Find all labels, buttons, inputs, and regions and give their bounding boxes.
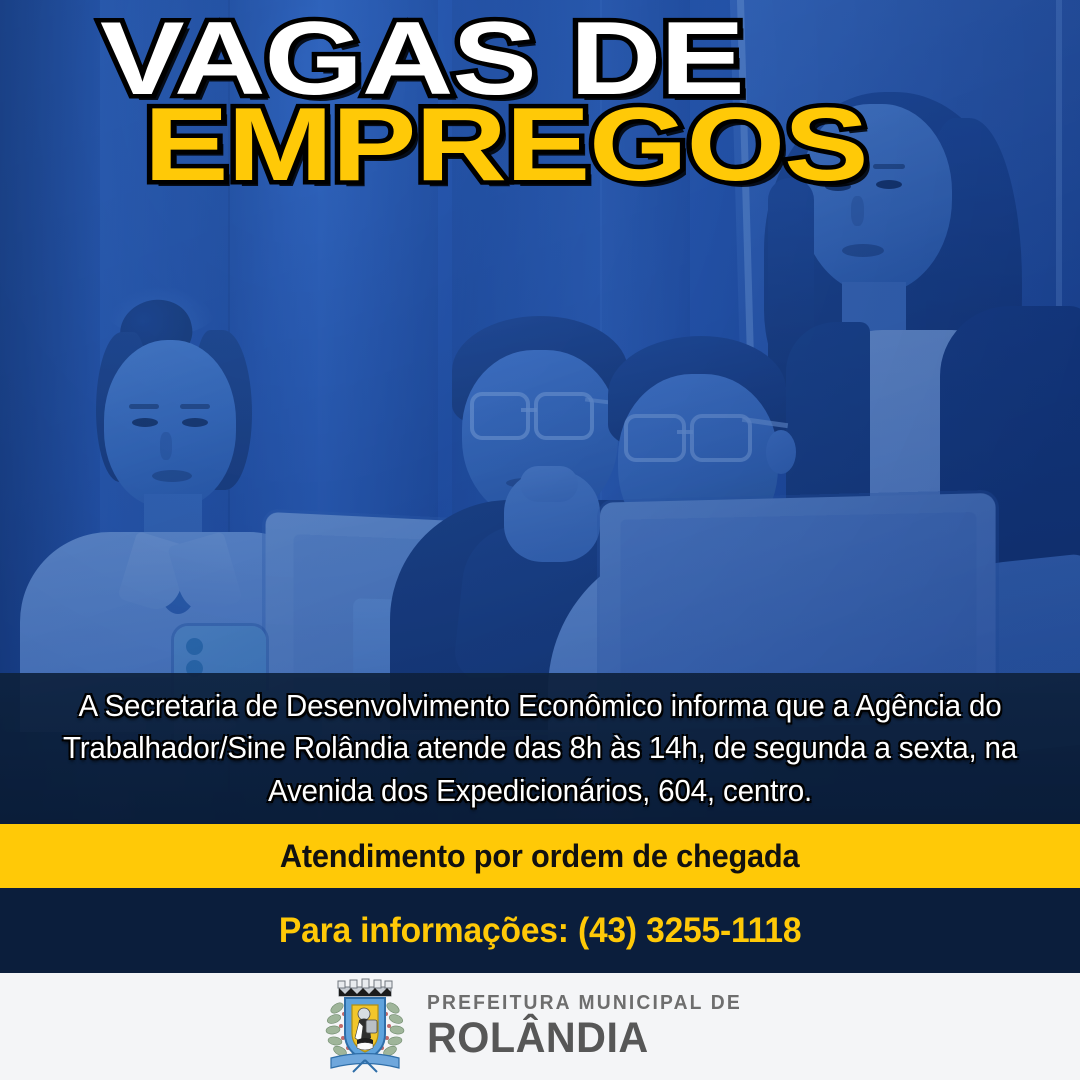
footer-logo-bar: PREFEITURA MUNICIPAL DE ROLÂNDIA (0, 973, 1080, 1080)
logo-city-name: ROLÂNDIA (427, 1017, 749, 1060)
contact-band: Para informações: (43) 3255-1118 (0, 888, 1080, 973)
info-text: A Secretaria de Desenvolvimento Econômic… (31, 685, 1050, 811)
poster-canvas: VAGAS DE EMPREGOS A Secretaria de Desenv… (0, 0, 1080, 1080)
info-band: A Secretaria de Desenvolvimento Econômic… (0, 673, 1080, 824)
highlight-band: Atendimento por ordem de chegada (0, 824, 1080, 888)
contact-phone-text: Para informações: (43) 3255-1118 (279, 911, 801, 951)
headline: VAGAS DE EMPREGOS (0, 14, 1080, 191)
highlight-text: Atendimento por ordem de chegada (280, 838, 800, 875)
coat-of-arms-icon (319, 978, 411, 1076)
headline-line-2: EMPREGOS (100, 100, 1080, 192)
logo-top-line: PREFEITURA MUNICIPAL DE (427, 993, 742, 1014)
logo-wordmark: PREFEITURA MUNICIPAL DE ROLÂNDIA (427, 993, 762, 1060)
